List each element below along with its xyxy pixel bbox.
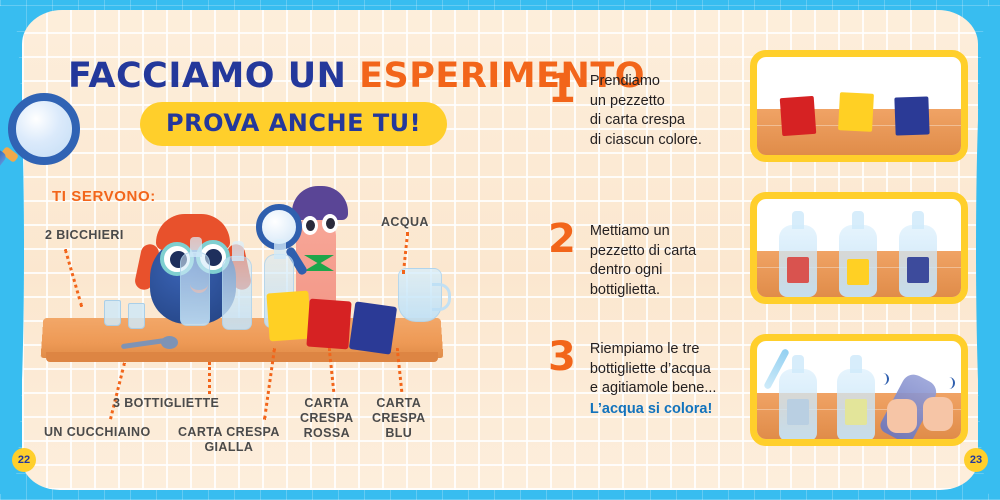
panel-1-paper-yellow — [838, 92, 874, 132]
label-acqua: ACQUA — [381, 215, 429, 230]
character-pink-pupil-left — [306, 220, 315, 231]
leader-line-bottigliette — [208, 362, 211, 394]
motion-line-right — [943, 377, 955, 389]
step-2: 2 Mettiamo un pezzetto di carta dentro o… — [548, 222, 696, 300]
step-3-highlight: L’acqua si colora! — [590, 401, 717, 417]
table-edge — [46, 352, 438, 362]
title-part-one: FACCIAMO UN — [68, 56, 346, 96]
book-spread: FACCIAMO UN ESPERIMENTO PROVA ANCHE TU! … — [0, 0, 1000, 500]
crepe-paper-red — [306, 299, 351, 350]
drinking-glass-2 — [128, 303, 145, 329]
photo-panel-1 — [750, 50, 968, 162]
step-1: 1 Prendiamo un pezzetto di carta crespa … — [548, 72, 702, 150]
page-number-right: 23 — [964, 448, 988, 472]
spoon-bowl — [161, 336, 178, 349]
label-carta-crespa-blu: CARTA CRESPA BLU — [372, 396, 426, 441]
panel-2-paper-red — [787, 257, 809, 283]
page-number-left: 22 — [12, 448, 36, 472]
step-3-number: 3 — [548, 340, 576, 374]
crepe-paper-yellow — [266, 291, 311, 342]
step-1-text: Prendiamo un pezzetto di carta crespa di… — [590, 72, 702, 150]
label-carta-crespa-rossa: CARTA CRESPA ROSSA — [300, 396, 354, 441]
small-bottle-2 — [222, 256, 252, 330]
step-3-body: Riempiamo le tre bottigliette d’acqua e … — [590, 340, 717, 417]
label-cucchiaino: UN CUCCHIAINO — [44, 425, 151, 440]
step-2-text: Mettiamo un pezzetto di carta dentro ogn… — [590, 222, 696, 300]
magnifying-glass-icon — [8, 93, 80, 165]
step-3: 3 Riempiamo le tre bottigliette d’acqua … — [548, 340, 716, 417]
small-bottle-1 — [180, 252, 210, 326]
label-carta-crespa-gialla: CARTA CRESPA GIALLA — [178, 425, 280, 455]
step-3-text: Riempiamo le tre bottigliette d’acqua e … — [590, 340, 717, 399]
label-bottigliette: 3 BOTTIGLIETTE — [113, 396, 219, 411]
drinking-glass-1 — [104, 300, 121, 326]
panel-2-paper-blue — [907, 257, 929, 283]
crepe-paper-blue — [349, 301, 397, 354]
hand-left — [887, 399, 917, 433]
water-pitcher — [398, 268, 442, 322]
panel-3-water-1 — [787, 399, 809, 425]
panel-3-water-2 — [845, 399, 867, 425]
panel-1-paper-red — [780, 96, 817, 136]
step-2-number: 2 — [548, 222, 576, 256]
step-1-number: 1 — [548, 72, 576, 106]
materials-heading: TI SERVONO: — [52, 188, 156, 205]
motion-line-left — [877, 373, 889, 385]
panel-2-paper-yellow — [847, 259, 869, 285]
hand-right — [923, 397, 953, 431]
panel-1-paper-blue — [894, 96, 929, 135]
label-bicchieri: 2 BICCHIERI — [45, 228, 124, 243]
photo-panel-3 — [750, 334, 968, 446]
try-it-badge: PROVA ANCHE TU! — [140, 102, 447, 146]
photo-panel-2 — [750, 192, 968, 304]
character-pink-pupil-right — [326, 218, 335, 229]
